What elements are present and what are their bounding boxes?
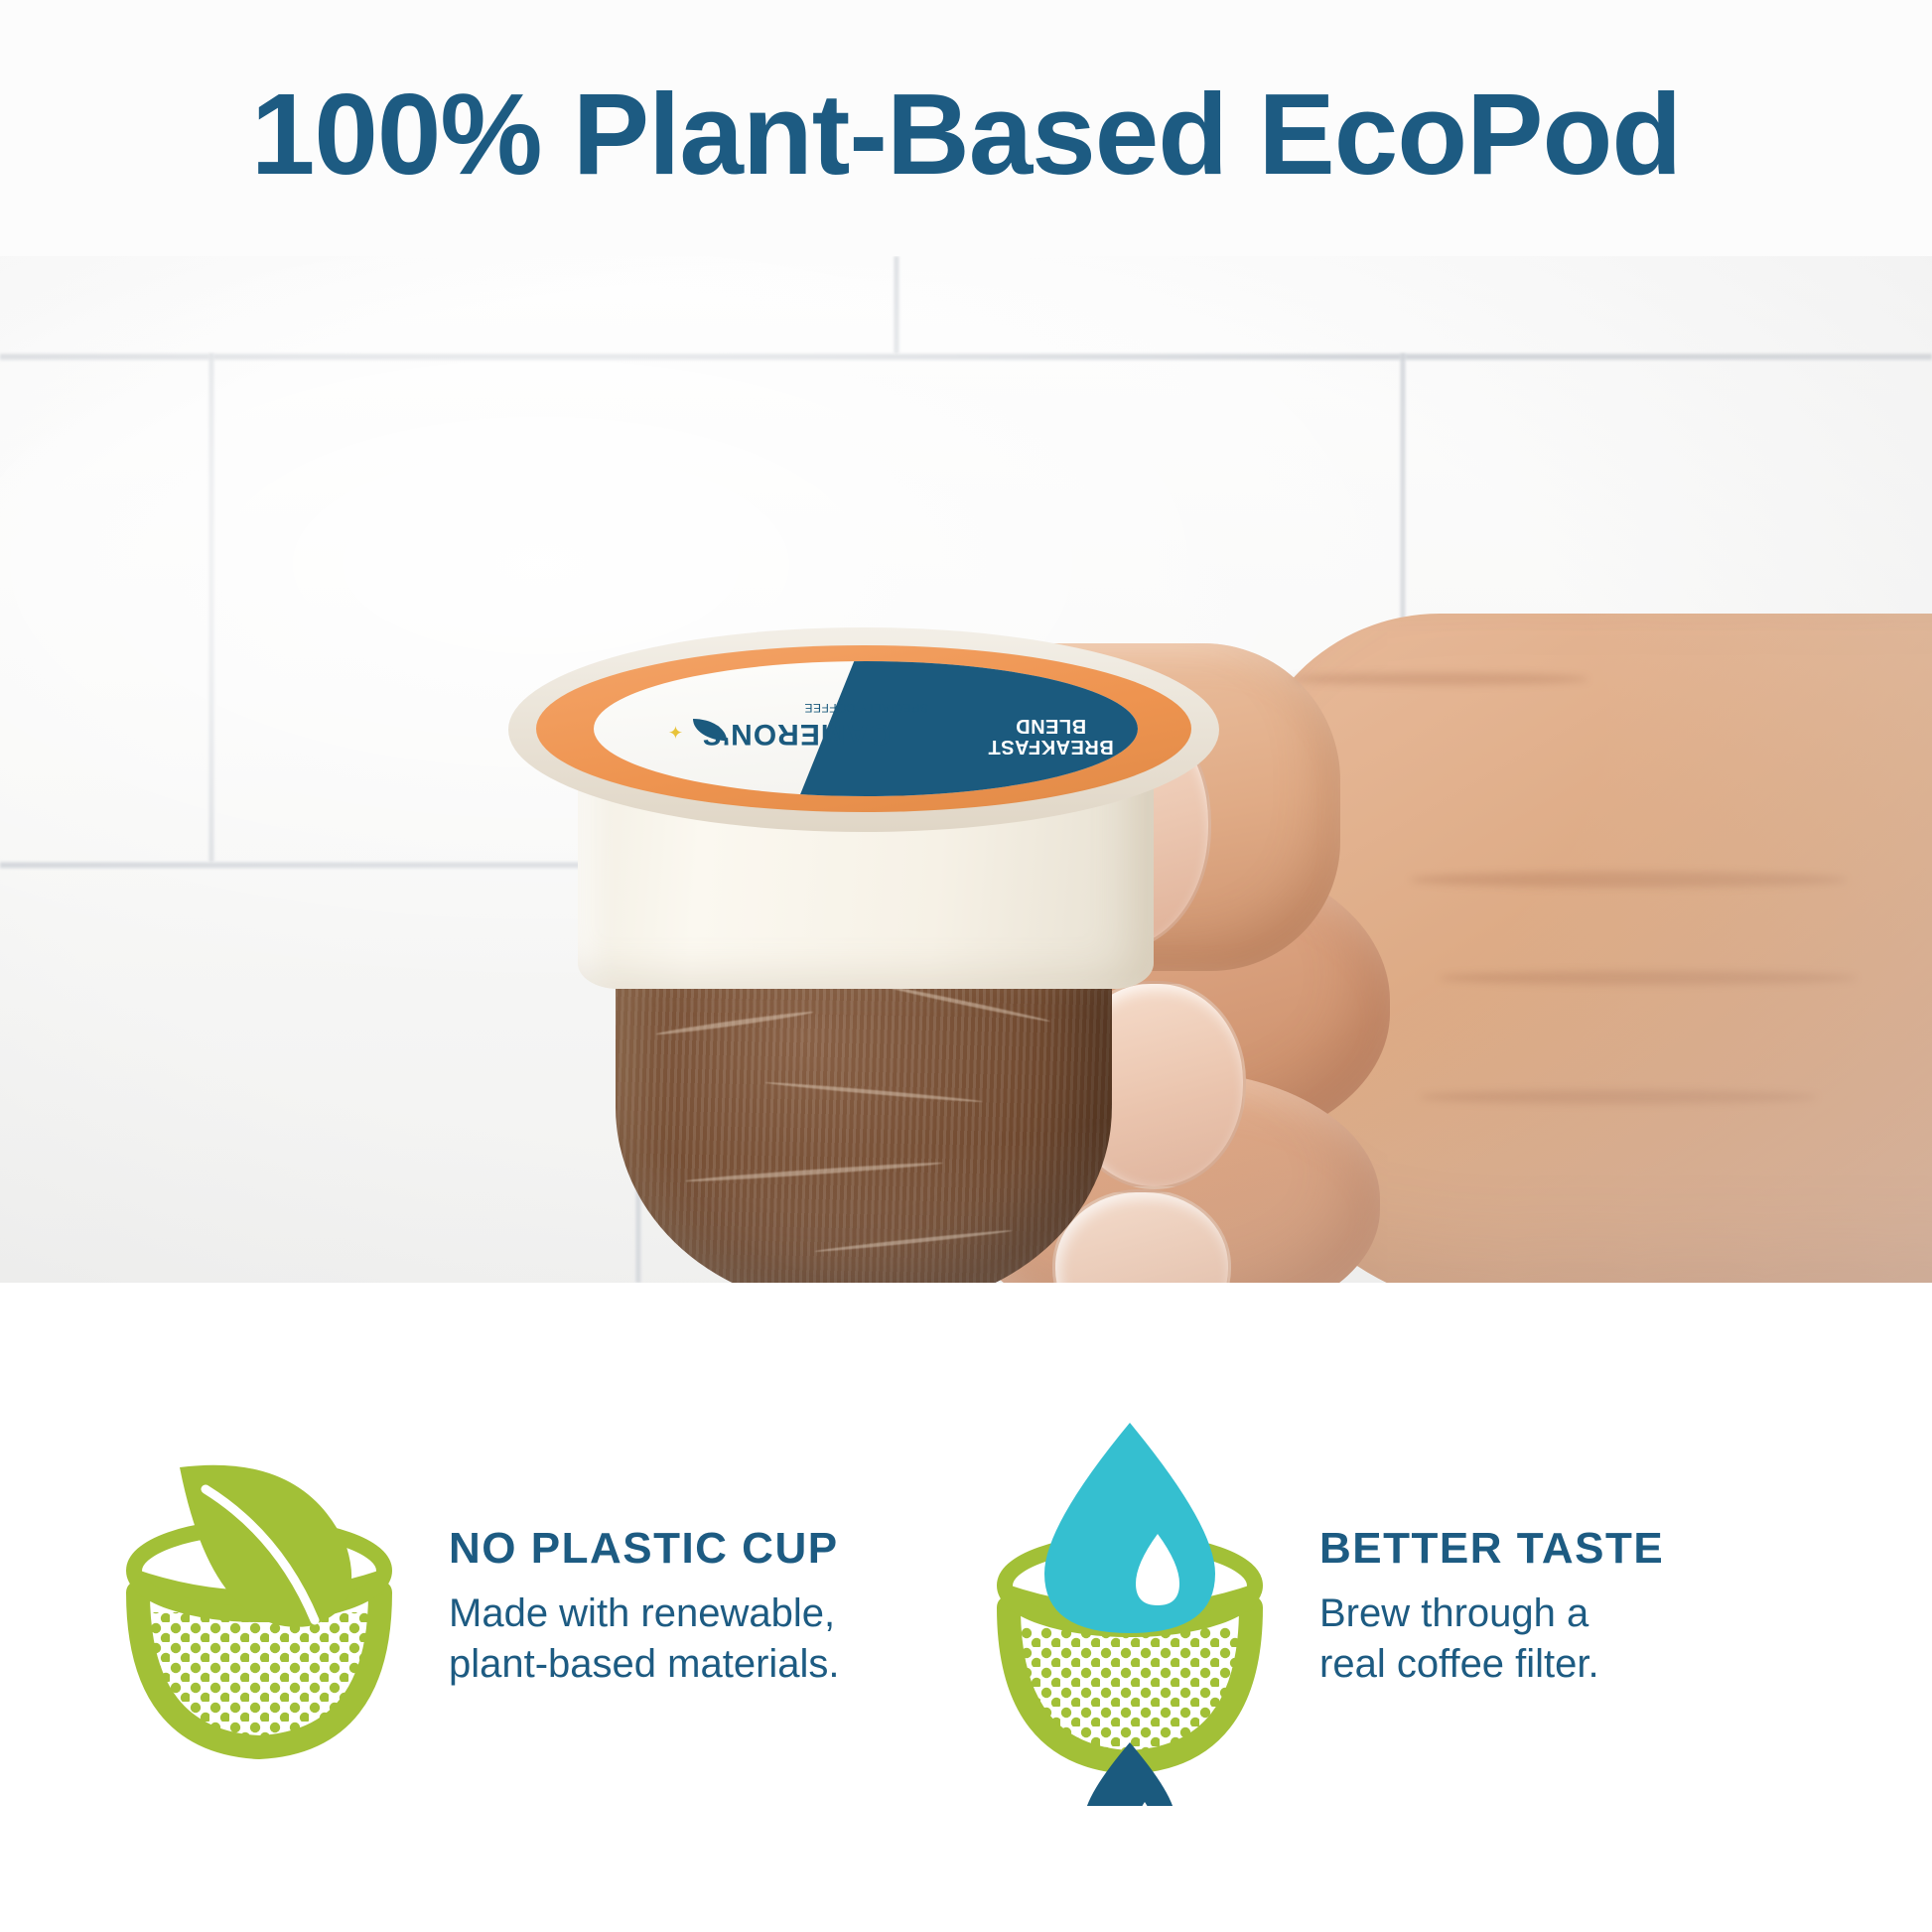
coffee-pod: ✦ CAMERON'S SPECIALTY COFFEE BREAKFAST B… bbox=[516, 633, 1211, 1249]
star-icon: ✦ bbox=[667, 725, 683, 741]
feature-row: NO PLASTIC CUP Made with renewable, plan… bbox=[0, 1283, 1932, 1932]
pod-blend-name: BREAKFAST BLEND bbox=[988, 715, 1114, 757]
page-title: 100% Plant-Based EcoPod bbox=[251, 76, 1681, 192]
pod-with-leaf-icon bbox=[95, 1444, 423, 1771]
pod-blend-line-2: BLEND bbox=[1016, 715, 1086, 737]
feature-body: Made with renewable, plant-based materia… bbox=[449, 1588, 840, 1690]
pod-fiber-filter bbox=[616, 961, 1112, 1283]
feature-body-line-2: real coffee filter. bbox=[1319, 1639, 1664, 1690]
product-infographic: 100% Plant-Based EcoPod bbox=[0, 0, 1932, 1932]
pod-brand-subtitle: SPECIALTY COFFEE bbox=[804, 701, 928, 715]
headline-band: 100% Plant-Based EcoPod bbox=[0, 0, 1932, 256]
feature-better-taste: BETTER TASTE Brew through a real coffee … bbox=[966, 1409, 1837, 1806]
feature-title: NO PLASTIC CUP bbox=[449, 1525, 840, 1573]
feature-body: Brew through a real coffee filter. bbox=[1319, 1588, 1664, 1690]
product-photo: ✦ CAMERON'S SPECIALTY COFFEE BREAKFAST B… bbox=[0, 256, 1932, 1283]
feature-no-plastic-cup: NO PLASTIC CUP Made with renewable, plan… bbox=[95, 1444, 966, 1771]
skin-crease bbox=[1420, 1090, 1817, 1104]
feature-body-line-1: Made with renewable, bbox=[449, 1588, 840, 1639]
tile-grout-line bbox=[208, 353, 214, 862]
tile-grout-line bbox=[894, 256, 899, 353]
skin-crease bbox=[1291, 673, 1588, 685]
feature-body-line-1: Brew through a bbox=[1319, 1588, 1664, 1639]
pod-blend-line-1: BREAKFAST bbox=[988, 736, 1114, 758]
pod-with-water-drop-icon bbox=[966, 1409, 1294, 1806]
feature-text-block: BETTER TASTE Brew through a real coffee … bbox=[1294, 1525, 1664, 1691]
feature-text-block: NO PLASTIC CUP Made with renewable, plan… bbox=[423, 1525, 840, 1691]
feature-title: BETTER TASTE bbox=[1319, 1525, 1664, 1573]
pod-brand-name: CAMERON'S bbox=[701, 717, 891, 751]
pod-lid-label: ✦ CAMERON'S SPECIALTY COFFEE BREAKFAST B… bbox=[594, 661, 1138, 796]
skin-crease bbox=[1410, 872, 1847, 888]
feature-body-line-2: plant-based materials. bbox=[449, 1639, 840, 1690]
tile-grout-line bbox=[0, 353, 1932, 360]
skin-crease bbox=[1440, 971, 1857, 985]
